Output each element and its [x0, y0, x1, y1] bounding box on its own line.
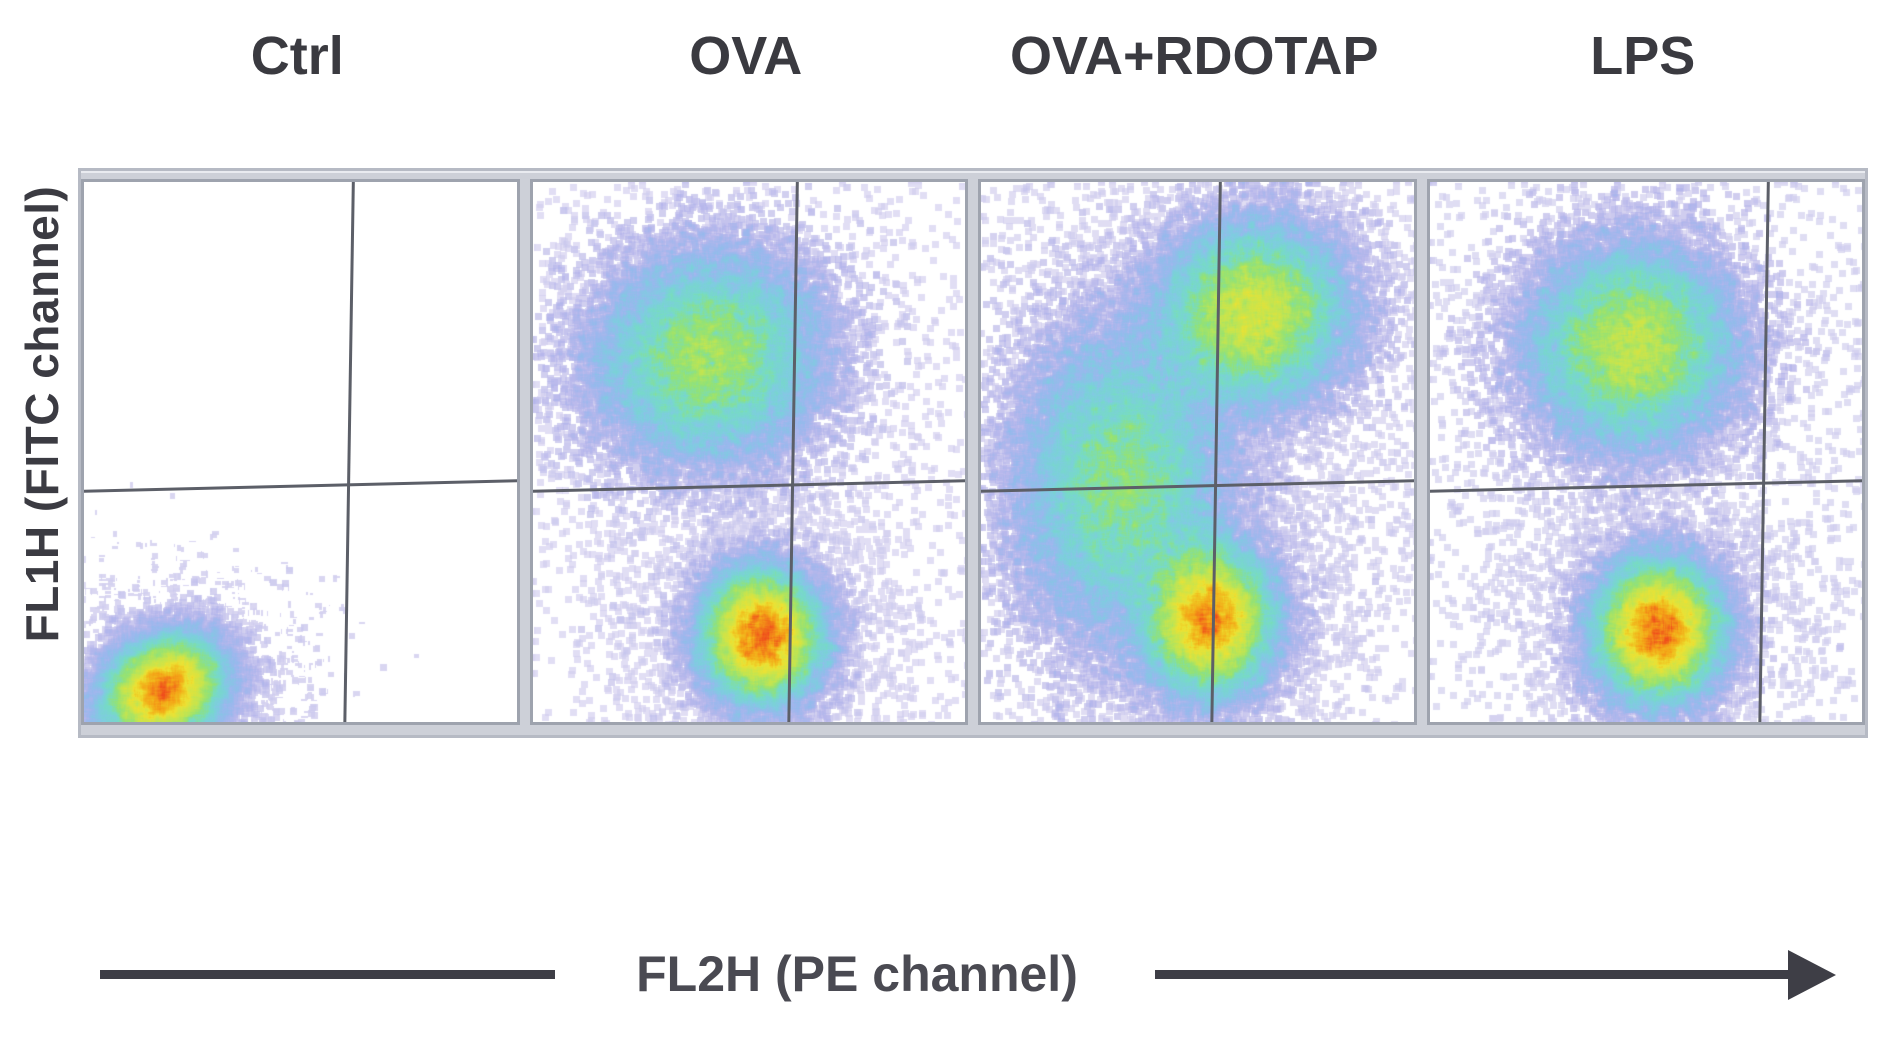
plot-panel-ova-rdotap[interactable] — [978, 179, 1417, 725]
flow-cytometry-figure: FL1H (FITC channel) CtrlOVAOVA+RDOTAPLPS… — [0, 0, 1894, 1037]
panel-title-ova: OVA — [527, 6, 966, 106]
panel-title-row: CtrlOVAOVA+RDOTAPLPS — [78, 6, 1868, 106]
plot-panel-lps[interactable] — [1427, 179, 1866, 725]
plot-area — [981, 182, 1414, 722]
panel-title-ova-rdotap: OVA+RDOTAP — [975, 6, 1414, 106]
x-axis-line-right — [1155, 970, 1795, 979]
panel-title-ctrl: Ctrl — [78, 6, 517, 106]
plot-panel-ova[interactable] — [530, 179, 969, 725]
x-axis-line-left — [100, 970, 555, 979]
plot-area — [84, 182, 517, 722]
x-axis: FL2H (PE channel) — [100, 930, 1860, 1016]
plot-strip — [78, 168, 1868, 738]
density-plot-canvas — [981, 182, 1414, 722]
x-axis-arrowhead-icon — [1788, 950, 1836, 1000]
plot-area — [533, 182, 966, 722]
plot-panel-ctrl[interactable] — [81, 179, 520, 725]
y-axis-label: FL1H (FITC channel) — [12, 104, 72, 724]
plot-area — [1430, 182, 1863, 722]
density-plot-canvas — [533, 182, 966, 722]
x-axis-label: FL2H (PE channel) — [552, 934, 1162, 1014]
density-plot-canvas — [84, 182, 517, 722]
density-plot-canvas — [1430, 182, 1863, 722]
panel-title-lps: LPS — [1424, 6, 1863, 106]
